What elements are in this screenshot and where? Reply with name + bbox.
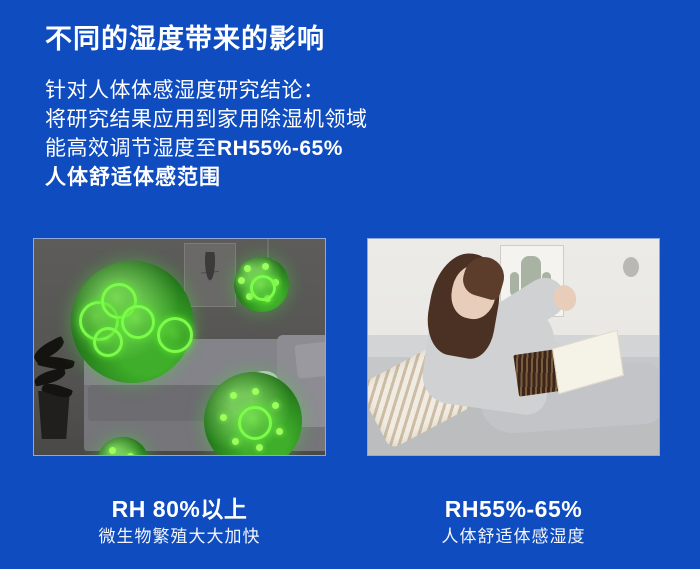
intro-line-2: 将研究结果应用到家用除湿机领域 [45, 105, 368, 134]
intro-line-1: 针对人体体感湿度研究结论： [45, 76, 368, 105]
humidity-infographic-poster: 不同的湿度带来的影响 针对人体体感湿度研究结论： 将研究结果应用到家用除湿机领域… [0, 0, 700, 569]
caption-title: RH55%-65% [367, 494, 660, 524]
dark-living-room-illustration [34, 239, 325, 455]
wall-art-frame [184, 243, 236, 307]
sofa-cushion [294, 341, 325, 379]
photo-comfort-humidity [367, 238, 660, 456]
photo-high-humidity [33, 238, 326, 456]
caption-comfort-humidity: RH55%-65% 人体舒适体感湿度 [367, 494, 660, 550]
microbe-cluster-large [71, 261, 193, 383]
intro-line-3-text: 能高效调节湿度至 [45, 137, 217, 160]
intro-paragraph: 针对人体体感湿度研究结论： 将研究结果应用到家用除湿机领域 能高效调节湿度至RH… [45, 76, 368, 192]
intro-line-3-highlight: RH55%-65% [217, 137, 343, 160]
caption-title: RH 80%以上 [33, 494, 326, 524]
page-title: 不同的湿度带来的影响 [45, 17, 325, 56]
bright-living-room-illustration [368, 239, 659, 455]
wall-speaker [623, 257, 639, 277]
caption-high-humidity: RH 80%以上 微生物繁殖大大加快 [33, 494, 326, 550]
microbe-cluster-small [234, 257, 289, 312]
caption-subtitle: 人体舒适体感湿度 [367, 524, 660, 550]
caption-subtitle: 微生物繁殖大大加快 [33, 524, 326, 550]
intro-line-3: 能高效调节湿度至RH55%-65% [45, 134, 368, 163]
plant-pot [36, 391, 72, 439]
intro-line-4: 人体舒适体感范围 [45, 163, 368, 192]
